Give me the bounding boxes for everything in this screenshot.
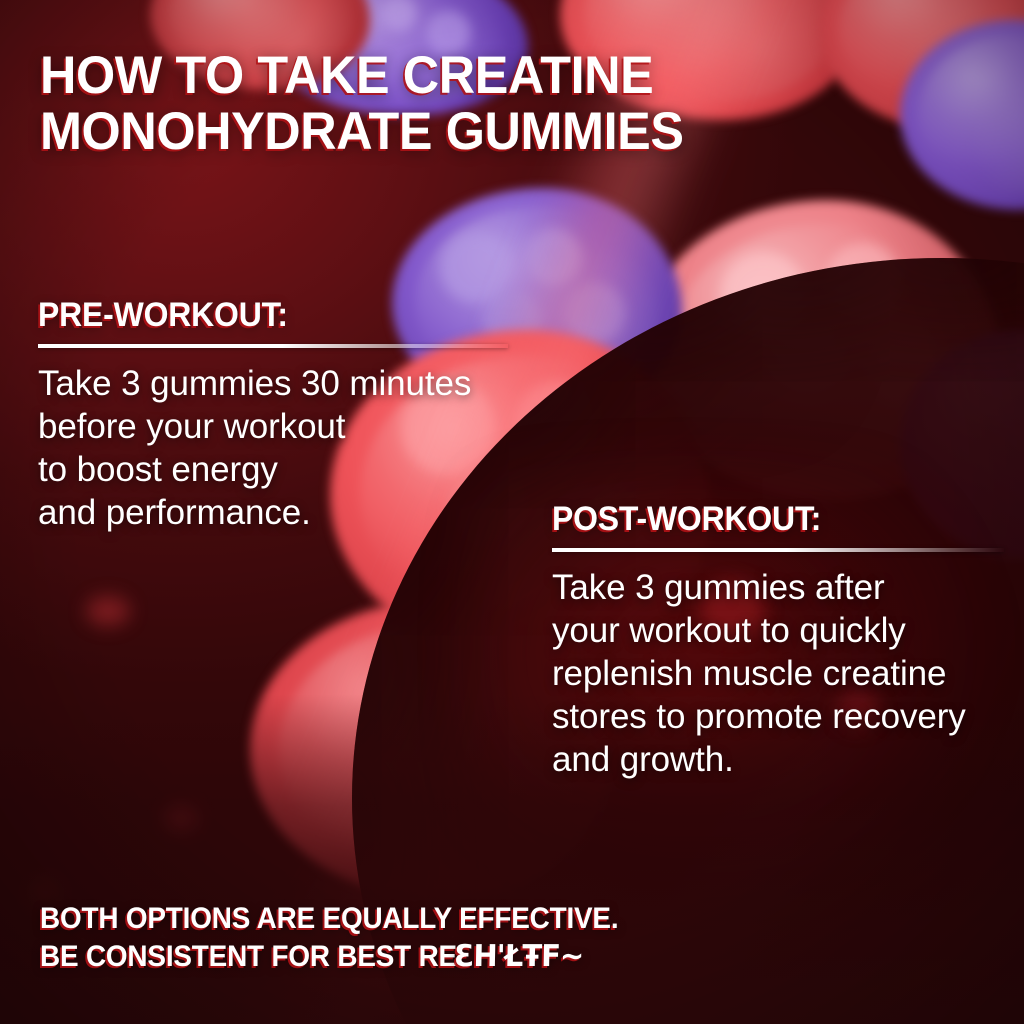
footer-glitch-text: ƐH'ŁŦF~ [454,938,584,976]
poster-canvas: HOW TO TAKE CREATINE MONOHYDRATE GUMMIES… [0,0,1024,1024]
footer-line-2: BE CONSISTENT FOR BEST REƐH'ŁŦF~ [40,938,877,976]
pre-workout-body: Take 3 gummies 30 minutes before your wo… [38,362,508,534]
post-workout-body: Take 3 gummies after your workout to qui… [552,566,1004,781]
section-post-workout: POST-WORKOUT: Take 3 gummies after your … [552,500,1004,781]
pre-workout-underline [38,344,508,348]
footer-line-2-prefix: BE CONSISTENT FOR BEST RE [40,940,457,973]
footer-note: BOTH OPTIONS ARE EQUALLY EFFECTIVE. BE C… [40,900,877,976]
content-layer: HOW TO TAKE CREATINE MONOHYDRATE GUMMIES… [0,0,1024,1024]
section-pre-workout: PRE-WORKOUT: Take 3 gummies 30 minutes b… [38,296,508,534]
post-workout-heading: POST-WORKOUT: [552,500,977,539]
post-workout-underline [552,548,1004,552]
footer-line-1: BOTH OPTIONS ARE EQUALLY EFFECTIVE. [40,900,877,938]
page-title: HOW TO TAKE CREATINE MONOHYDRATE GUMMIES [40,48,876,160]
pre-workout-heading: PRE-WORKOUT: [38,296,480,335]
